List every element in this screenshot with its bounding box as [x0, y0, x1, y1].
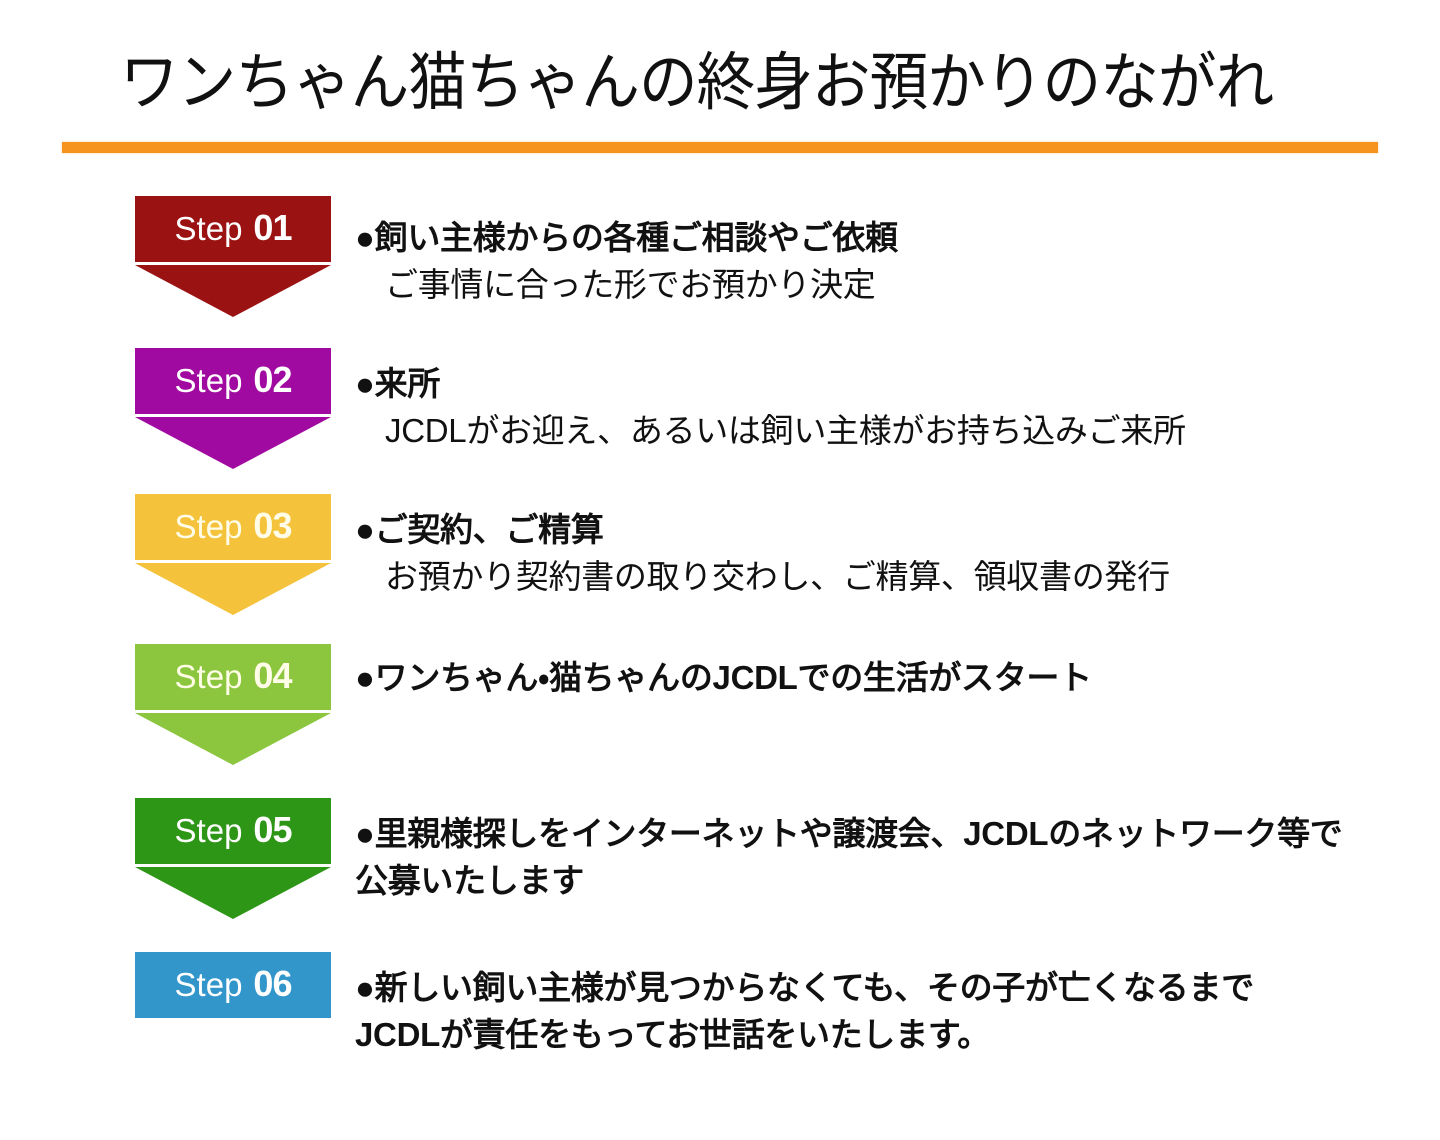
- step-arrow-icon: [135, 417, 331, 469]
- step-headline: ●飼い主様からの各種ご相談やご依頼: [355, 214, 1395, 261]
- step-text-block: ●ご契約、ご精算お預かり契約書の取り交わし、ご精算、領収書の発行: [355, 506, 1395, 600]
- step-badge[interactable]: Step06: [135, 952, 331, 1018]
- step-badge-label: Step05: [175, 813, 292, 847]
- step-badge-body: Step05: [135, 798, 331, 864]
- step-arrow-icon: [135, 265, 331, 317]
- step-arrow-icon: [135, 867, 331, 919]
- step-badge[interactable]: Step03: [135, 494, 331, 615]
- step-badge-label: Step04: [175, 659, 292, 693]
- step-detail-line: JCDLがお迎え、あるいは飼い主様がお持ち込みご来所: [355, 407, 1395, 454]
- step-badge-label: Step01: [175, 211, 292, 245]
- step-badge[interactable]: Step05: [135, 798, 331, 919]
- step-badge-body: Step06: [135, 952, 331, 1018]
- step-badge-label: Step02: [175, 363, 292, 397]
- step-detail-line: 公募いたします: [355, 857, 1395, 904]
- step-badge-body: Step03: [135, 494, 331, 560]
- step-detail-line: ご事情に合った形でお預かり決定: [355, 261, 1395, 308]
- step-text-block: ●来所JCDLがお迎え、あるいは飼い主様がお持ち込みご来所: [355, 360, 1395, 454]
- step-badge-body: Step04: [135, 644, 331, 710]
- step-badge[interactable]: Step04: [135, 644, 331, 765]
- step-text-block: ●新しい飼い主様が見つからなくても、その子が亡くなるまでJCDLが責任をもってお…: [355, 964, 1395, 1058]
- step-arrow-icon: [135, 713, 331, 765]
- step-text-block: ●里親様探しをインターネットや譲渡会、JCDLのネットワーク等で公募いたします: [355, 810, 1395, 904]
- step-badge[interactable]: Step01: [135, 196, 331, 317]
- step-badge[interactable]: Step02: [135, 348, 331, 469]
- step-headline: ●ワンちゃん・猫ちゃんのJCDLでの生活がスタート: [355, 654, 1395, 701]
- step-headline: ●新しい飼い主様が見つからなくても、その子が亡くなるまで: [355, 964, 1395, 1011]
- step-badge-body: Step02: [135, 348, 331, 414]
- step-row: Step03●ご契約、ご精算お預かり契約書の取り交わし、ご精算、領収書の発行: [0, 494, 1440, 615]
- step-text-block: ●飼い主様からの各種ご相談やご依頼ご事情に合った形でお預かり決定: [355, 214, 1395, 308]
- step-badge-number: 05: [253, 809, 291, 850]
- step-text-block: ●ワンちゃん・猫ちゃんのJCDLでの生活がスタート: [355, 654, 1395, 701]
- step-headline: ●ご契約、ご精算: [355, 506, 1395, 553]
- step-badge-number: 01: [253, 207, 291, 248]
- step-row: Step05●里親様探しをインターネットや譲渡会、JCDLのネットワーク等で公募…: [0, 798, 1440, 919]
- step-row: Step02●来所JCDLがお迎え、あるいは飼い主様がお持ち込みご来所: [0, 348, 1440, 469]
- step-row: Step04●ワンちゃん・猫ちゃんのJCDLでの生活がスタート: [0, 644, 1440, 765]
- step-detail-line: JCDLが責任をもってお世話をいたします。: [355, 1011, 1395, 1058]
- step-badge-number: 04: [253, 655, 291, 696]
- step-badge-number: 02: [253, 359, 291, 400]
- page-title: ワンちゃん猫ちゃんの終身お預かりのながれ: [120, 44, 1283, 122]
- step-badge-label: Step03: [175, 509, 292, 543]
- title-underline-bar: [62, 142, 1378, 153]
- step-badge-number: 03: [253, 505, 291, 546]
- step-row: Step01●飼い主様からの各種ご相談やご依頼ご事情に合った形でお預かり決定: [0, 196, 1440, 317]
- step-row: Step06●新しい飼い主様が見つからなくても、その子が亡くなるまでJCDLが責…: [0, 952, 1440, 1018]
- step-badge-number: 06: [253, 963, 291, 1004]
- step-detail-line: お預かり契約書の取り交わし、ご精算、領収書の発行: [355, 553, 1395, 600]
- step-headline: ●里親様探しをインターネットや譲渡会、JCDLのネットワーク等で: [355, 810, 1395, 857]
- step-headline: ●来所: [355, 360, 1395, 407]
- step-arrow-icon: [135, 563, 331, 615]
- step-badge-label: Step06: [175, 967, 292, 1001]
- step-badge-body: Step01: [135, 196, 331, 262]
